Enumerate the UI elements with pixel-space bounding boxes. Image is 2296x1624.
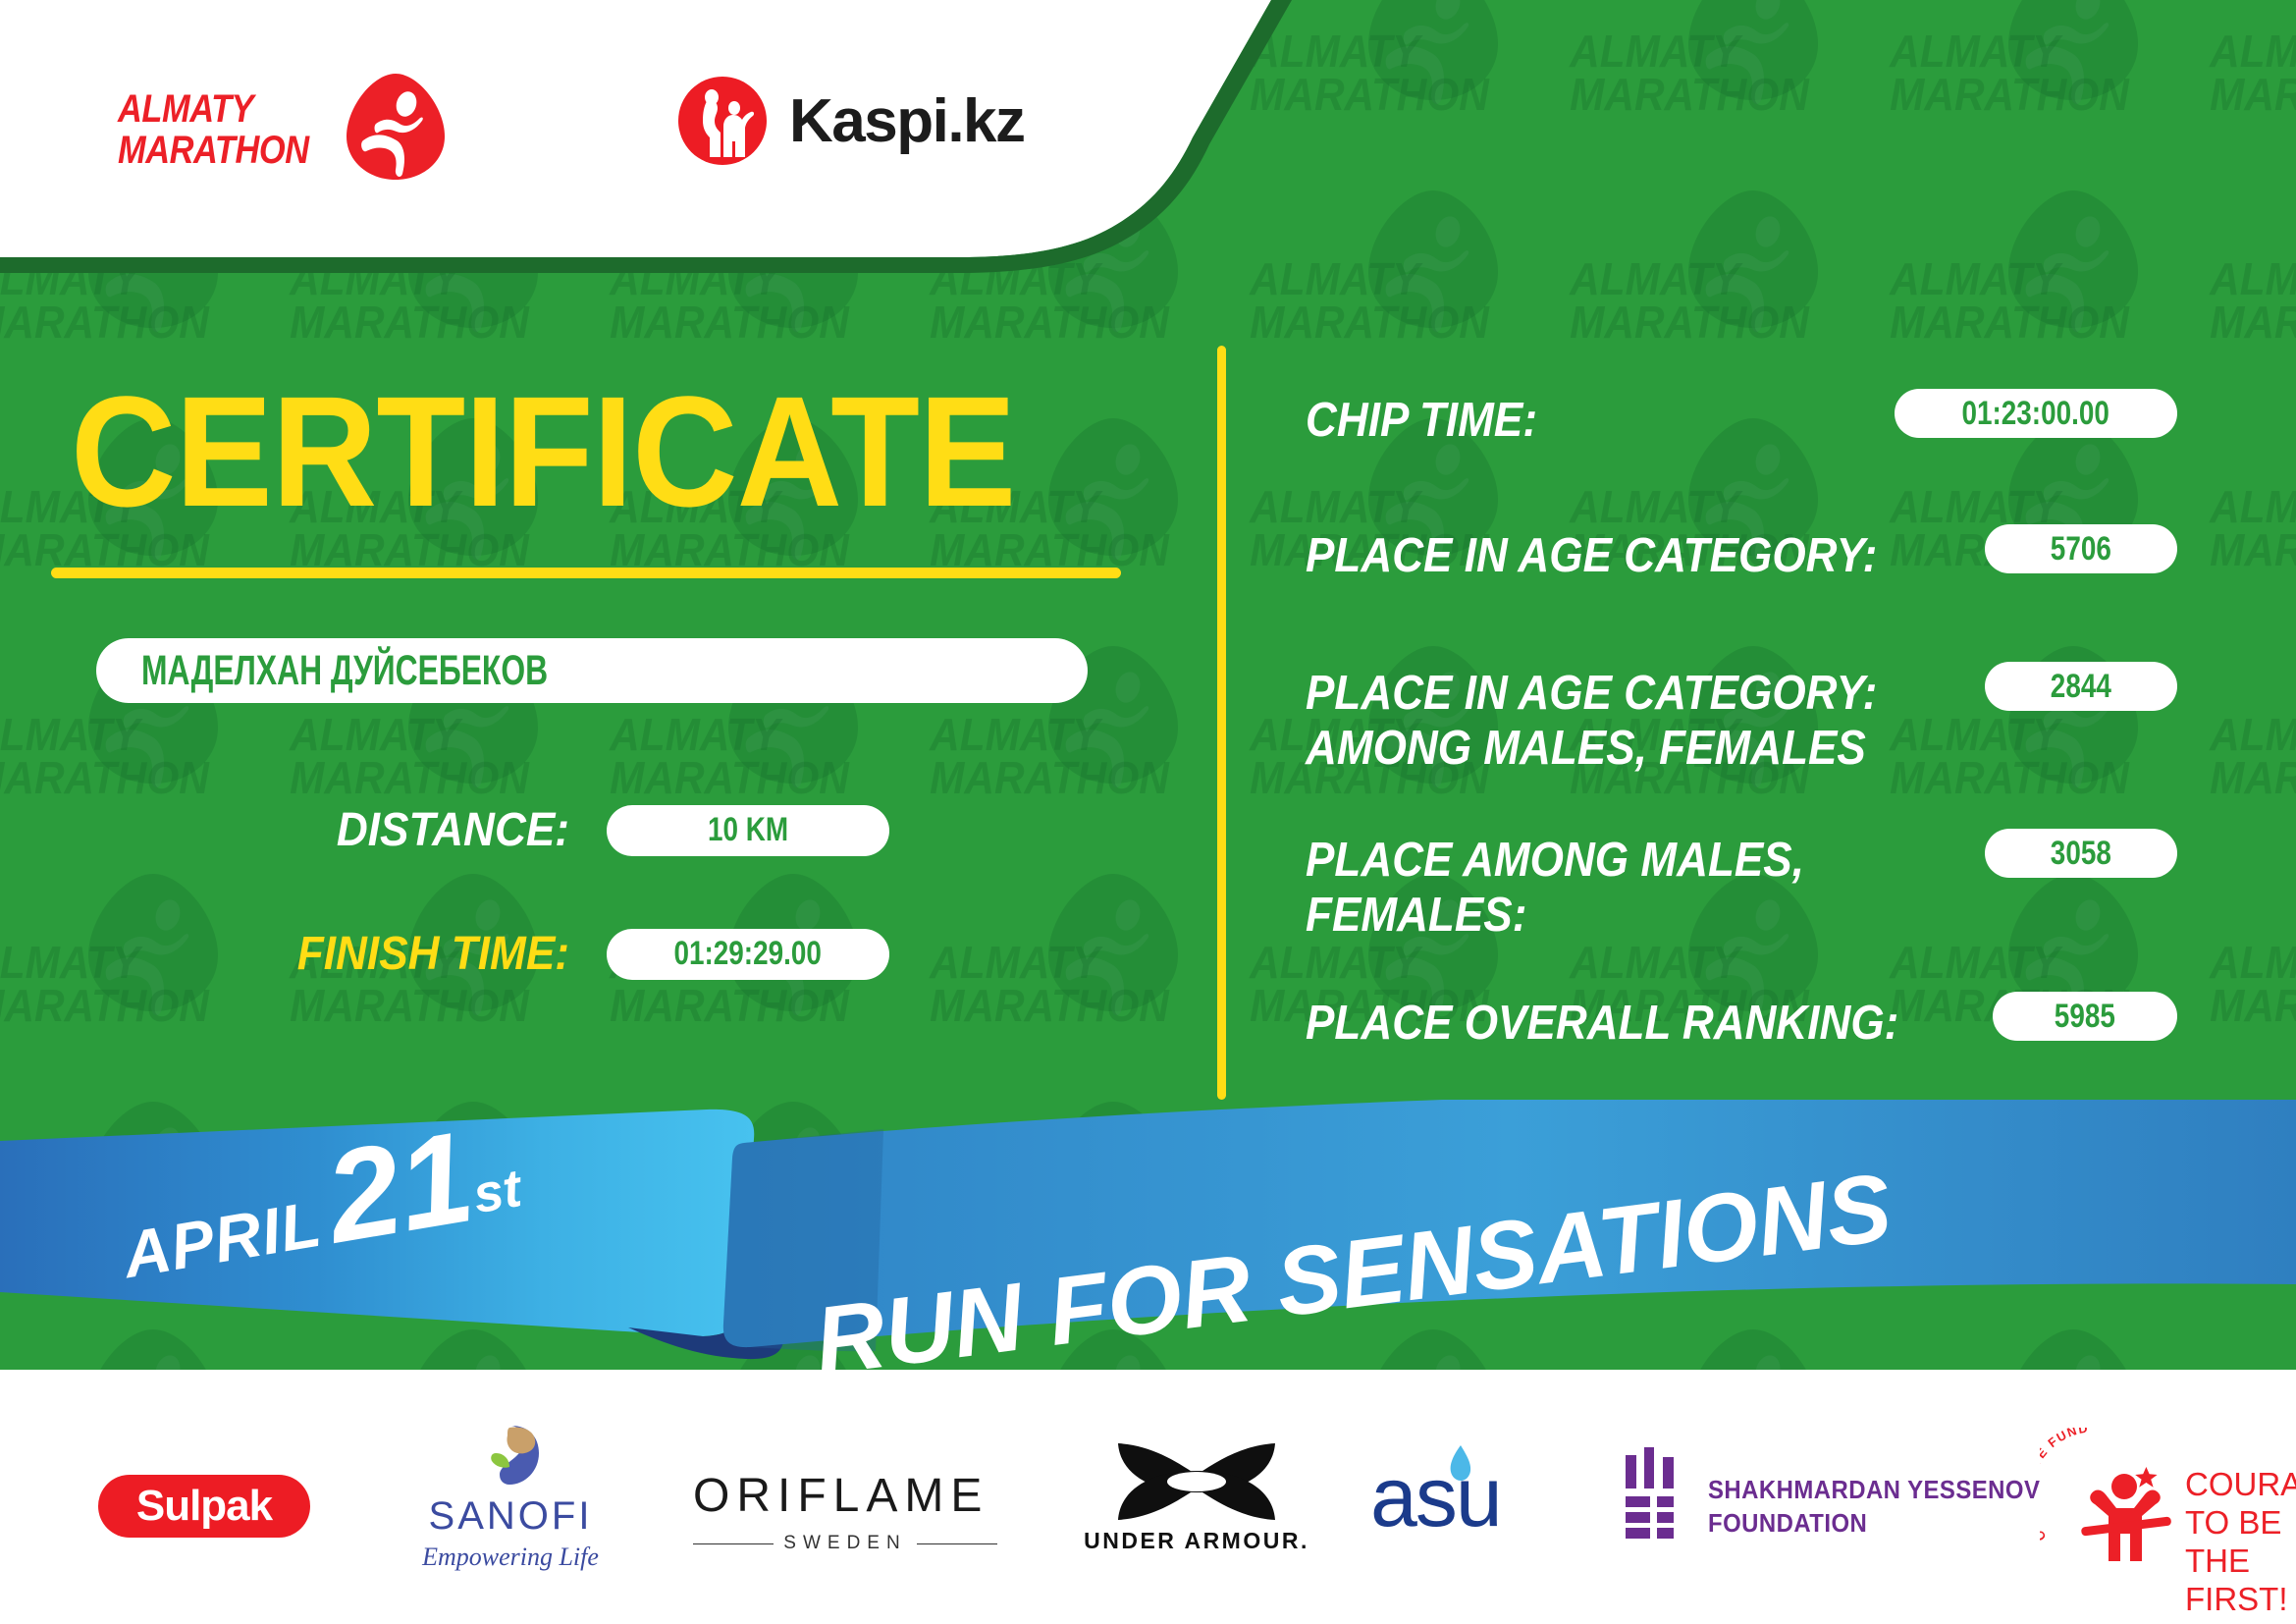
svg-text:MARATHON: MARATHON bbox=[2210, 298, 2296, 348]
oriflame-rule-right bbox=[917, 1543, 997, 1544]
courage-wordmark: COURAGE TO BE THE FIRST! bbox=[2185, 1465, 2296, 1618]
place-age-category-among-label-line1: PLACE IN AGE CATEGORY: bbox=[1306, 666, 1877, 721]
sulpak-wordmark: Sulpak bbox=[136, 1482, 272, 1531]
chip-time-value-pill: 01:23:00.00 bbox=[1895, 389, 2177, 438]
svg-text:MARATHON: MARATHON bbox=[1570, 70, 1810, 120]
oriflame-sub: SWEDEN bbox=[693, 1533, 997, 1554]
distance-value-pill: 10 KM bbox=[607, 805, 889, 856]
watermark-tile: ALMATYMARATHON bbox=[1881, 624, 2205, 850]
place-age-category-value: 5706 bbox=[2051, 530, 2111, 568]
svg-text:MARATHON: MARATHON bbox=[2210, 753, 2296, 803]
event-date-day: 21 bbox=[316, 1104, 482, 1270]
place-age-category-label: PLACE IN AGE CATEGORY: bbox=[1306, 528, 1877, 583]
watermark-tile: ALMATYMARATHON bbox=[2201, 397, 2296, 623]
kaspi-family-circle-icon bbox=[677, 76, 768, 166]
watermark-tile: ALMATYMARATHON bbox=[1561, 397, 1885, 623]
svg-text:MARATHON: MARATHON bbox=[2210, 70, 2296, 120]
sponsor-sanofi: SANOFI Empowering Life bbox=[373, 1424, 648, 1572]
svg-text:MARATHON: MARATHON bbox=[290, 298, 530, 348]
courage-wordmark-line3: THE FIRST! bbox=[2185, 1542, 2296, 1618]
svg-text:MARATHON: MARATHON bbox=[930, 753, 1170, 803]
yessenov-foundation-wordmark-line1: SHAKHMARDAN YESSENOV bbox=[1708, 1473, 2040, 1506]
kaspi-logo: Kaspi.kz bbox=[677, 67, 1050, 175]
place-among-males-females-value-pill: 3058 bbox=[1985, 829, 2177, 878]
svg-text:MARATHON: MARATHON bbox=[610, 981, 850, 1031]
place-overall-ranking-label: PLACE OVERALL RANKING: bbox=[1306, 996, 1898, 1051]
asu-droplet-icon bbox=[1445, 1443, 1474, 1485]
chip-time-value: 01:23:00.00 bbox=[1962, 395, 2109, 433]
event-date-month: APRIL bbox=[118, 1187, 326, 1291]
under-armour-wordmark: UNDER ARMOUR. bbox=[1084, 1528, 1309, 1554]
certificate-canvas: ALMATYMARATHONALMATYMARATHONALMATYMARATH… bbox=[0, 0, 2296, 1624]
asu-wordmark: asu bbox=[1370, 1455, 1501, 1540]
place-age-category-among-label: PLACE IN AGE CATEGORY: AMONG MALES, FEMA… bbox=[1306, 666, 1877, 776]
finish-time-value: 01:29:29.00 bbox=[674, 935, 822, 973]
watermark-tile: ALMATYMARATHON bbox=[0, 852, 285, 1078]
watermark-tile: ALMATYMARATHON bbox=[2201, 624, 2296, 850]
place-among-males-females-label: PLACE AMONG MALES, FEMALES: bbox=[1306, 833, 1804, 943]
event-date-suffix: st bbox=[469, 1159, 525, 1224]
oriflame-wordmark: ORIFLAME bbox=[693, 1469, 997, 1523]
svg-text:MARATHON: MARATHON bbox=[610, 753, 850, 803]
asu-logo: asu bbox=[1370, 1455, 1501, 1540]
sponsor-sulpak: Sulpak bbox=[98, 1475, 310, 1538]
sponsor-asu: asu bbox=[1370, 1455, 1501, 1540]
place-overall-ranking-value: 5985 bbox=[2055, 998, 2115, 1036]
chip-time-label: CHIP TIME: bbox=[1306, 393, 1537, 448]
yessenov-foundation-wordmark: SHAKHMARDAN YESSENOV FOUNDATION bbox=[1708, 1473, 2040, 1540]
svg-text:MARATHON: MARATHON bbox=[930, 981, 1170, 1031]
courage-wordmark-line2: TO BE bbox=[2185, 1503, 2296, 1542]
place-among-males-females-label-line1: PLACE AMONG MALES, bbox=[1306, 833, 1804, 888]
watermark-tile: ALMATYMARATHON bbox=[1881, 852, 2205, 1078]
place-age-category-among-value: 2844 bbox=[2051, 668, 2111, 706]
svg-text:MARATHON: MARATHON bbox=[1890, 70, 2130, 120]
almaty-marathon-wordmark: ALMATY MARATHON bbox=[118, 88, 346, 171]
column-divider bbox=[1217, 346, 1226, 1100]
sponsor-under-armour: UNDER ARMOUR. bbox=[1084, 1441, 1309, 1554]
watermark-tile: ALMATYMARATHON bbox=[2201, 852, 2296, 1078]
almaty-marathon-wordmark-line1: ALMATY bbox=[118, 88, 346, 130]
watermark-tile: ALMATYMARATHON bbox=[1561, 0, 1885, 167]
place-overall-ranking-value-pill: 5985 bbox=[1993, 992, 2177, 1041]
participant-name-field: МАДЕЛХАН ДУЙСЕБЕКОВ bbox=[96, 638, 1088, 703]
finish-time-row: FINISH TIME: 01:29:29.00 bbox=[247, 927, 889, 981]
sponsor-courage-to-be-the-first: CORPORATE FUND COURAGE TO BE THE FIRST! bbox=[2040, 1428, 2285, 1575]
sanofi-tagline: Empowering Life bbox=[373, 1543, 648, 1572]
svg-text:MARATHON: MARATHON bbox=[0, 298, 210, 348]
place-among-males-females-label-line2: FEMALES: bbox=[1306, 888, 1804, 943]
svg-text:MARATHON: MARATHON bbox=[290, 981, 530, 1031]
finish-time-value-pill: 01:29:29.00 bbox=[607, 929, 889, 980]
courage-figure-icon bbox=[2073, 1455, 2177, 1565]
watermark-tile: ALMATYMARATHON bbox=[1561, 169, 1885, 395]
courage-wordmark-line1: COURAGE bbox=[2185, 1465, 2296, 1503]
place-age-category-among-value-pill: 2844 bbox=[1985, 662, 2177, 711]
yessenov-foundation-mark-icon bbox=[1622, 1447, 1682, 1542]
sulpak-logo: Sulpak bbox=[98, 1475, 310, 1538]
watermark-tile: ALMATYMARATHON bbox=[1881, 169, 2205, 395]
participant-name-value: МАДЕЛХАН ДУЙСЕБЕКОВ bbox=[141, 647, 548, 695]
sponsor-yessenov-foundation: SHAKHMARDAN YESSENOV FOUNDATION bbox=[1622, 1447, 2069, 1542]
svg-text:MARATHON: MARATHON bbox=[1890, 298, 2130, 348]
svg-text:MARATHON: MARATHON bbox=[0, 981, 210, 1031]
svg-text:MARATHON: MARATHON bbox=[610, 298, 850, 348]
sponsor-oriflame: ORIFLAME SWEDEN bbox=[693, 1469, 997, 1554]
svg-text:MARATHON: MARATHON bbox=[0, 753, 210, 803]
kaspi-wordmark: Kaspi.kz bbox=[789, 86, 1025, 156]
svg-text:MARATHON: MARATHON bbox=[930, 298, 1170, 348]
sanofi-wordmark: SANOFI bbox=[373, 1494, 648, 1539]
page-title: CERTIFICATE bbox=[71, 378, 1015, 525]
distance-label: DISTANCE: bbox=[298, 803, 569, 857]
svg-text:MARATHON: MARATHON bbox=[1250, 298, 1490, 348]
svg-text:MARATHON: MARATHON bbox=[2210, 525, 2296, 575]
watermark-tile: ALMATYMARATHON bbox=[2201, 0, 2296, 167]
almaty-marathon-logo: ALMATY MARATHON bbox=[118, 59, 442, 187]
finish-time-label: FINISH TIME: bbox=[273, 927, 569, 981]
svg-text:MARATHON: MARATHON bbox=[2210, 981, 2296, 1031]
distance-value: 10 KM bbox=[708, 811, 788, 849]
almaty-marathon-wordmark-line2: MARATHON bbox=[118, 130, 346, 171]
distance-row: DISTANCE: 10 KM bbox=[275, 803, 889, 857]
oriflame-rule-left bbox=[693, 1543, 774, 1544]
svg-text:MARATHON: MARATHON bbox=[1890, 753, 2130, 803]
svg-text:MARATHON: MARATHON bbox=[290, 753, 530, 803]
watermark-tile: ALMATYMARATHON bbox=[921, 852, 1245, 1078]
sanofi-mark-icon bbox=[373, 1424, 648, 1494]
under-armour-mark-icon bbox=[1084, 1441, 1309, 1522]
title-underline-rule bbox=[51, 568, 1121, 578]
place-age-category-value-pill: 5706 bbox=[1985, 524, 2177, 573]
watermark-tile: ALMATYMARATHON bbox=[2201, 169, 2296, 395]
yessenov-foundation-wordmark-line2: FOUNDATION bbox=[1708, 1506, 2040, 1540]
runner-teardrop-icon bbox=[346, 72, 446, 182]
place-age-category-among-label-line2: AMONG MALES, FEMALES bbox=[1306, 721, 1877, 776]
oriflame-sub-text: SWEDEN bbox=[783, 1533, 906, 1554]
place-among-males-females-value: 3058 bbox=[2051, 835, 2111, 873]
sponsor-strip: Sulpak SANOFI Empowering Life ORIFLAME S… bbox=[0, 1394, 2296, 1624]
watermark-tile: ALMATYMARATHON bbox=[1881, 0, 2205, 167]
svg-text:MARATHON: MARATHON bbox=[1570, 298, 1810, 348]
